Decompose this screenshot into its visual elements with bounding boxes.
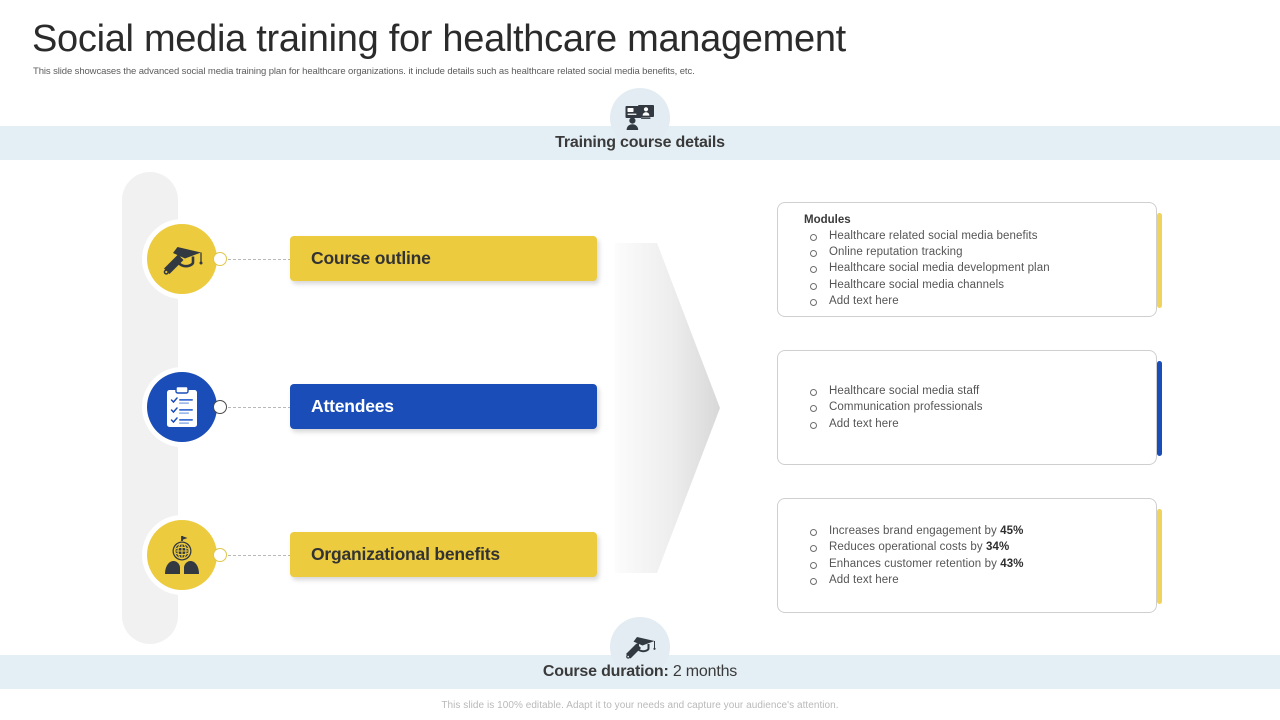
step-label-pill[interactable]: Organizational benefits (290, 532, 597, 577)
step-connector-line (228, 555, 291, 556)
step-connector-node (213, 400, 227, 414)
list-item: Add text here (804, 416, 1156, 432)
list-item-text: Add text here (829, 418, 899, 430)
list-item: Online reputation tracking (804, 244, 1156, 260)
footer-band-label: Course duration: 2 months (0, 655, 1280, 689)
list-item-text: Increases brand engagement by (829, 525, 1000, 537)
card-list: Healthcare related social media benefits… (804, 228, 1156, 309)
step-label: Attendees (311, 396, 394, 417)
card-body: Modules Healthcare related social media … (778, 203, 1156, 309)
list-item: Increases brand engagement by 45% (804, 523, 1156, 539)
list-item-text: Enhances customer retention by (829, 558, 1000, 570)
list-item: Healthcare social media development plan (804, 260, 1156, 276)
header-band-label: Training course details (0, 126, 1280, 160)
card-body: Increases brand engagement by 45% Reduce… (778, 499, 1156, 612)
step-connector-node (213, 548, 227, 562)
list-item: Enhances customer retention by 43% (804, 556, 1156, 572)
list-item-text: Reduces operational costs by (829, 541, 986, 553)
list-item-text: Healthcare related social media benefits (829, 230, 1038, 242)
list-item: Reduces operational costs by 34% (804, 539, 1156, 555)
course-duration-label: Course duration: (543, 663, 669, 680)
list-item: Healthcare social media channels (804, 277, 1156, 293)
slide-root: Social media training for healthcare man… (0, 0, 1280, 720)
card-accent-bar (1157, 213, 1162, 308)
list-item-text: Communication professionals (829, 401, 983, 413)
benefits-card[interactable]: Increases brand engagement by 45% Reduce… (777, 498, 1157, 613)
list-item-metric: 45% (1000, 525, 1023, 537)
step-connector-line (228, 259, 291, 260)
list-item: Healthcare social media staff (804, 383, 1156, 399)
list-item: Healthcare related social media benefits (804, 228, 1156, 244)
step-connector-node (213, 252, 227, 266)
card-body: Healthcare social media staff Communicat… (778, 351, 1156, 464)
list-item-metric: 43% (1000, 558, 1023, 570)
hands-holding-globe-icon (147, 520, 217, 590)
card-list: Healthcare social media staff Communicat… (804, 383, 1156, 432)
card-heading: Modules (804, 214, 1156, 226)
list-item-text: Healthcare social media development plan (829, 262, 1050, 274)
step-label: Organizational benefits (311, 544, 500, 565)
clipboard-checklist-icon (147, 372, 217, 442)
list-item-text: Healthcare social media staff (829, 385, 979, 397)
list-item: Communication professionals (804, 399, 1156, 415)
step-connector-line (228, 407, 291, 408)
step-label-pill[interactable]: Course outline (290, 236, 597, 281)
list-item-text: Healthcare social media channels (829, 279, 1004, 291)
page-title: Social media training for healthcare man… (32, 18, 846, 61)
slide-footnote: This slide is 100% editable. Adapt it to… (0, 700, 1280, 711)
list-item-text: Online reputation tracking (829, 246, 963, 258)
course-duration-value: 2 months (673, 663, 737, 680)
list-item-metric: 34% (986, 541, 1009, 553)
list-item-text: Add text here (829, 295, 899, 307)
step-label: Course outline (311, 248, 431, 269)
card-list: Increases brand engagement by 45% Reduce… (804, 523, 1156, 588)
page-subtitle: This slide showcases the advanced social… (33, 66, 695, 77)
graduation-cap-diploma-icon (147, 224, 217, 294)
list-item-text: Add text here (829, 574, 899, 586)
modules-card[interactable]: Modules Healthcare related social media … (777, 202, 1157, 317)
list-item: Add text here (804, 293, 1156, 309)
attendees-card[interactable]: Healthcare social media staff Communicat… (777, 350, 1157, 465)
step-label-pill[interactable]: Attendees (290, 384, 597, 429)
card-accent-bar (1157, 361, 1162, 456)
card-accent-bar (1157, 509, 1162, 604)
list-item: Add text here (804, 572, 1156, 588)
